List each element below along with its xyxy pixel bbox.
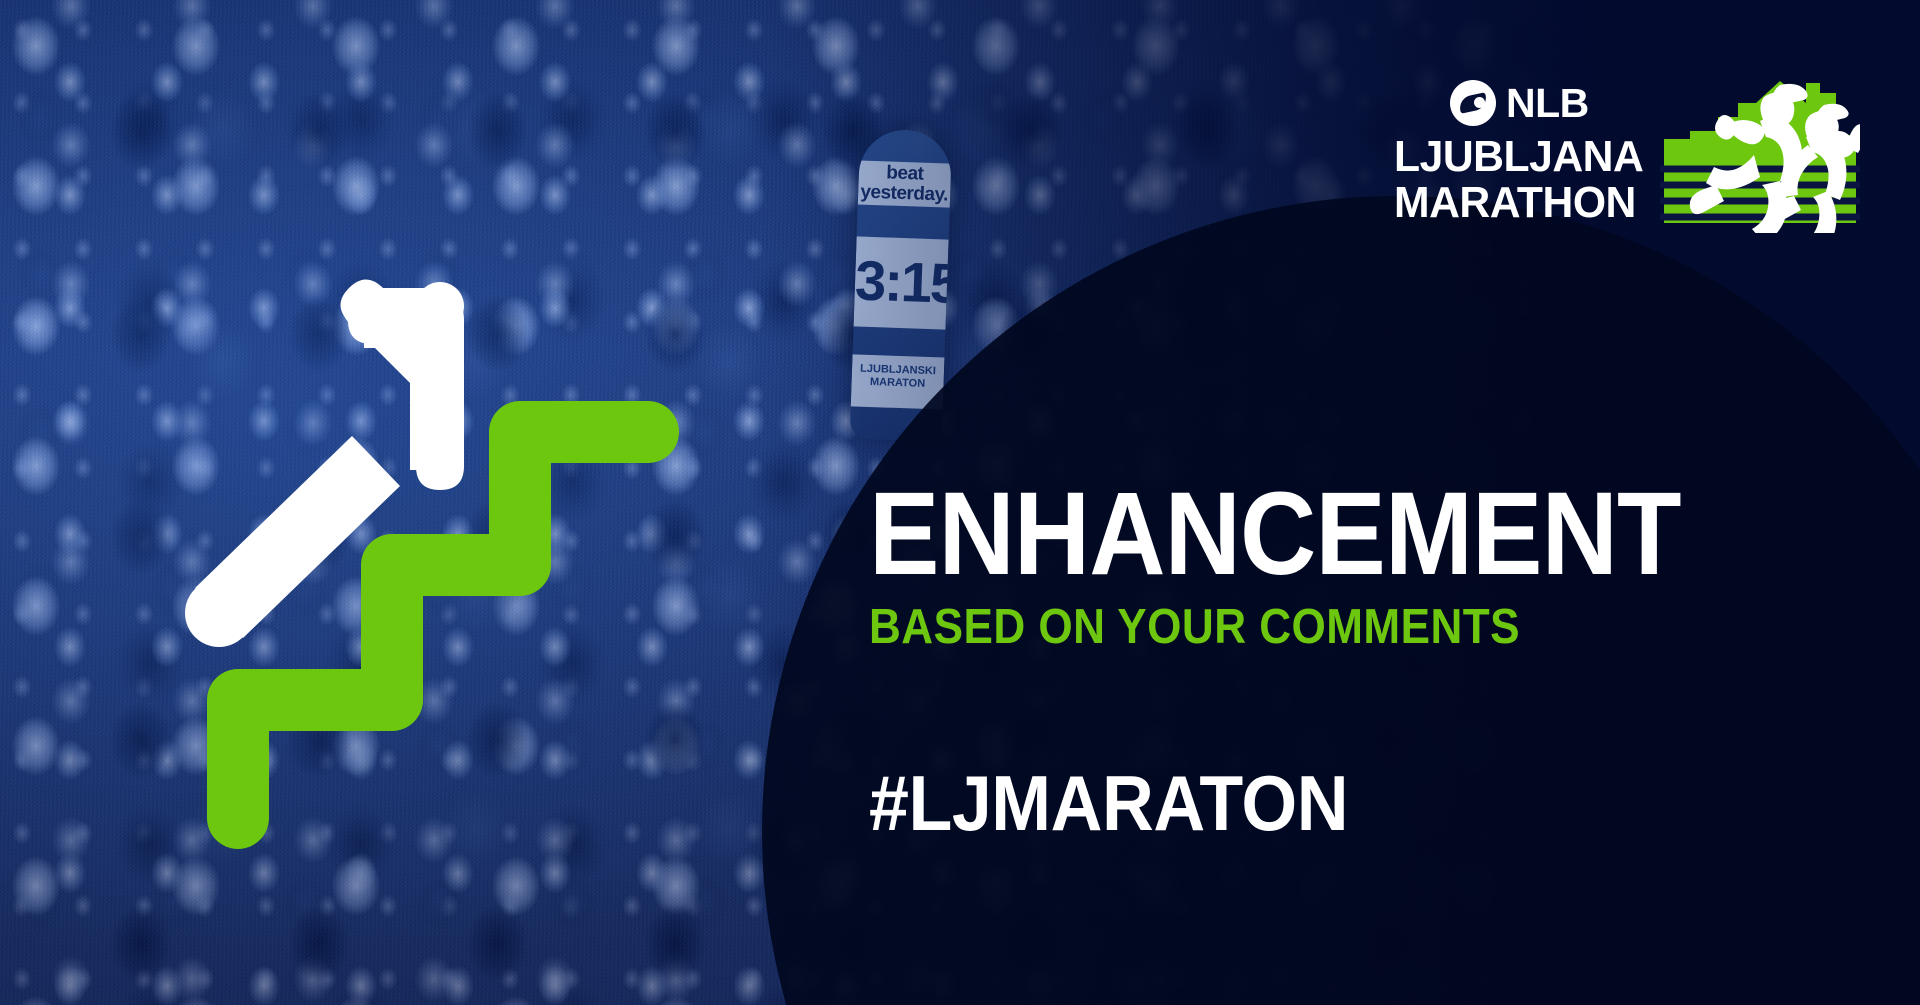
logo-line-marathon: MARATHON — [1394, 180, 1638, 226]
promo-banner: beat yesterday. 3:15 LJUBLJANSKI MARATON — [0, 0, 1920, 1005]
page-subtitle: BASED ON YOUR COMMENTS — [869, 598, 1787, 656]
nlb-dot-shape — [1474, 97, 1485, 108]
ljubljana-marathon-logo: NLB LJUBLJANA MARATHON — [1394, 68, 1862, 238]
campaign-hashtag: #LJMARATON — [869, 760, 1348, 846]
nlb-wordmark: NLB — [1506, 83, 1589, 124]
logo-line-ljubljana: LJUBLJANA — [1394, 134, 1638, 180]
headline-block: ENHANCEMENT BASED ON YOUR COMMENTS — [869, 482, 1889, 656]
logo-wordmark: NLB LJUBLJANA MARATHON — [1394, 80, 1646, 226]
page-title: ENHANCEMENT — [869, 482, 1782, 586]
ljubljana-castle-runners-emblem — [1660, 73, 1860, 233]
nlb-roundel-icon — [1450, 80, 1496, 126]
nlb-lockup: NLB — [1394, 80, 1646, 126]
